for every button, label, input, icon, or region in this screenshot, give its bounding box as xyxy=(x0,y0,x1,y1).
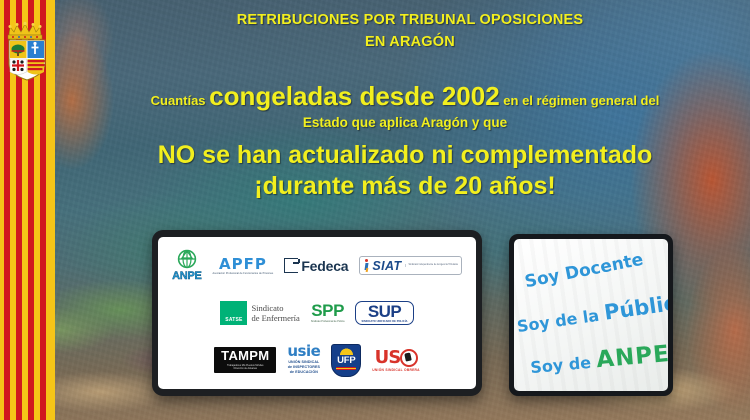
logo-fedeca: Fedeca xyxy=(284,258,348,274)
logo-satse: SATSE Sindicato de Enfermería xyxy=(220,301,299,325)
tablet-device: ANPE APFP Asociación Profesional de Func… xyxy=(152,230,482,396)
uso-subtitle: UNIÓN SINDICAL OBRERA xyxy=(372,368,420,372)
whiteboard-line-3: Soy de ANPE xyxy=(529,341,668,379)
body-line-4: ¡durante más de 20 años! xyxy=(60,172,750,200)
tampm-wordmark: TAMPM xyxy=(221,350,269,362)
logo-uso: US UNIÓN SINDICAL OBRERA xyxy=(372,349,420,372)
whiteboard-device: Soy Docente Soy de la Pública Soy de ANP… xyxy=(509,234,673,396)
siat-wordmark: SIAT xyxy=(372,259,401,273)
logo-ufp: UFP xyxy=(331,344,361,377)
ufp-wordmark: UFP xyxy=(337,356,355,366)
ufp-sun-icon xyxy=(338,347,355,355)
apfp-wordmark: APFP xyxy=(219,257,267,271)
anpe-globe-icon xyxy=(175,249,199,271)
body-line-3: NO se han actualizado ni complementado xyxy=(60,141,750,169)
body-line-2: Estado que aplica Aragón y que xyxy=(60,115,750,130)
satse-subtitle-line-1: Sindicato xyxy=(251,303,299,313)
anpe-wordmark: ANPE xyxy=(172,271,201,282)
body-line-1: Cuantías congeladas desde 2002 en el rég… xyxy=(60,82,750,111)
logo-row: ANPE APFP Asociación Profesional de Func… xyxy=(158,249,476,282)
satse-wordmark: SATSE xyxy=(225,317,242,323)
logo-spp: SPP Sindicato Profesional de Policía xyxy=(311,303,345,322)
logo-anpe: ANPE xyxy=(172,249,201,282)
whiteboard-line-2-prefix: Soy de la xyxy=(516,305,606,336)
satse-subtitle-line-2: de Enfermería xyxy=(251,313,299,323)
body-lead-tail: en el régimen general del xyxy=(503,93,659,108)
logo-sup: SUP SINDICATO UNIFICADO DE POLICÍA xyxy=(355,301,413,325)
poster-canvas: RETRIBUCIONES POR TRIBUNAL OPOSICIONES E… xyxy=(0,0,750,420)
apfp-subtitle: Asociación Profesional de Funcionarios d… xyxy=(213,272,274,275)
fedeca-wordmark: Fedeca xyxy=(301,258,348,274)
uso-wordmark-row: US xyxy=(375,349,418,367)
logo-tampm: TAMPM Trabajadores Mis Puestos Móviles D… xyxy=(214,347,276,374)
uso-fist-circle-icon xyxy=(400,349,418,367)
tampm-subtitle-line-2: Dirección de Aduanas xyxy=(227,367,263,370)
whiteboard-line-2: Soy de la Pública xyxy=(515,289,668,337)
body-lead-big: congeladas desde 2002 xyxy=(209,81,499,111)
spp-wordmark: SPP xyxy=(311,303,344,318)
satse-mark-icon: SATSE xyxy=(220,301,247,325)
usie-subtitle-line-3: de EDUCACIÓN xyxy=(288,370,320,375)
aragon-flag xyxy=(0,0,55,420)
satse-subtitle: Sindicato de Enfermería xyxy=(251,303,299,323)
logo-row: TAMPM Trabajadores Mis Puestos Móviles D… xyxy=(158,344,476,377)
spp-subtitle: Sindicato Profesional de Policía xyxy=(311,320,345,323)
whiteboard-line-3-anpe: ANPE xyxy=(595,341,668,373)
tablet-screen: ANPE APFP Asociación Profesional de Func… xyxy=(158,237,476,389)
sup-wordmark: SUP xyxy=(368,304,401,319)
whiteboard-surface: Soy Docente Soy de la Pública Soy de ANP… xyxy=(514,239,668,391)
logo-usie: usie UNIÓN SINDICAL de INSPECTORES de ED… xyxy=(287,345,320,376)
usie-subtitle: UNIÓN SINDICAL de INSPECTORES de EDUCACI… xyxy=(288,360,320,376)
headline-line-1: RETRIBUCIONES POR TRIBUNAL OPOSICIONES xyxy=(200,12,620,28)
siat-subtitle: Sindicato Independiente de la Agencia Tr… xyxy=(405,264,458,267)
whiteboard-line-1: Soy Docente xyxy=(523,250,645,293)
aragon-coat-of-arms-icon xyxy=(4,20,50,82)
usie-wordmark: usie xyxy=(287,345,320,359)
headline-line-2: EN ARAGÓN xyxy=(200,34,620,50)
uso-wordmark: US xyxy=(375,350,401,365)
siat-figure-icon xyxy=(363,259,370,272)
tampm-subtitle: Trabajadores Mis Puestos Móviles Direcci… xyxy=(227,364,263,371)
fedeca-bracket-icon xyxy=(284,258,298,273)
logo-apfp: APFP Asociación Profesional de Funcionar… xyxy=(213,257,274,275)
ufp-flag-bar-icon xyxy=(336,367,356,370)
whiteboard-line-2-emphasis: Pública xyxy=(603,289,668,325)
logo-siat: SIAT Sindicato Independiente de la Agenc… xyxy=(359,256,461,275)
body-lead-small: Cuantías xyxy=(151,93,206,108)
whiteboard-line-3-prefix: Soy de xyxy=(530,352,598,377)
logo-row: SATSE Sindicato de Enfermería SPP Sindic… xyxy=(158,301,476,325)
